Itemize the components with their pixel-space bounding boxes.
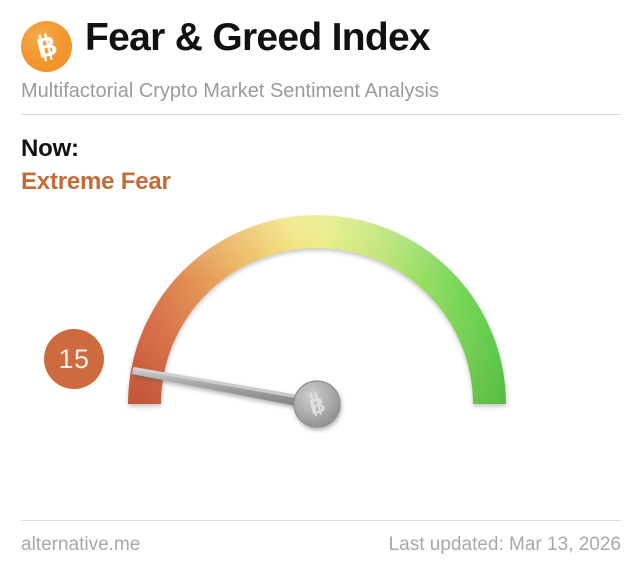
source-label: alternative.me: [21, 534, 140, 556]
now-label: Now:: [21, 135, 79, 163]
header-divider: [21, 114, 621, 115]
header: B Fear & Greed Index Multifactorial Cryp…: [0, 0, 640, 115]
index-value: 15: [58, 344, 89, 375]
gauge-arc: [128, 215, 506, 404]
footer-divider: [21, 520, 621, 521]
svg-text:B: B: [33, 30, 59, 64]
index-value-badge: 15: [44, 329, 104, 389]
page-subtitle: Multifactorial Crypto Market Sentiment A…: [21, 80, 439, 103]
sentiment-classification: Extreme Fear: [21, 168, 171, 196]
page-title: Fear & Greed Index: [85, 17, 430, 60]
bitcoin-icon: B: [21, 21, 72, 72]
last-updated-label: Last updated: Mar 13, 2026: [389, 534, 621, 556]
bitcoin-needle-hub-icon: B: [294, 381, 340, 427]
fear-greed-index-widget: B Fear & Greed Index Multifactorial Cryp…: [0, 0, 640, 575]
